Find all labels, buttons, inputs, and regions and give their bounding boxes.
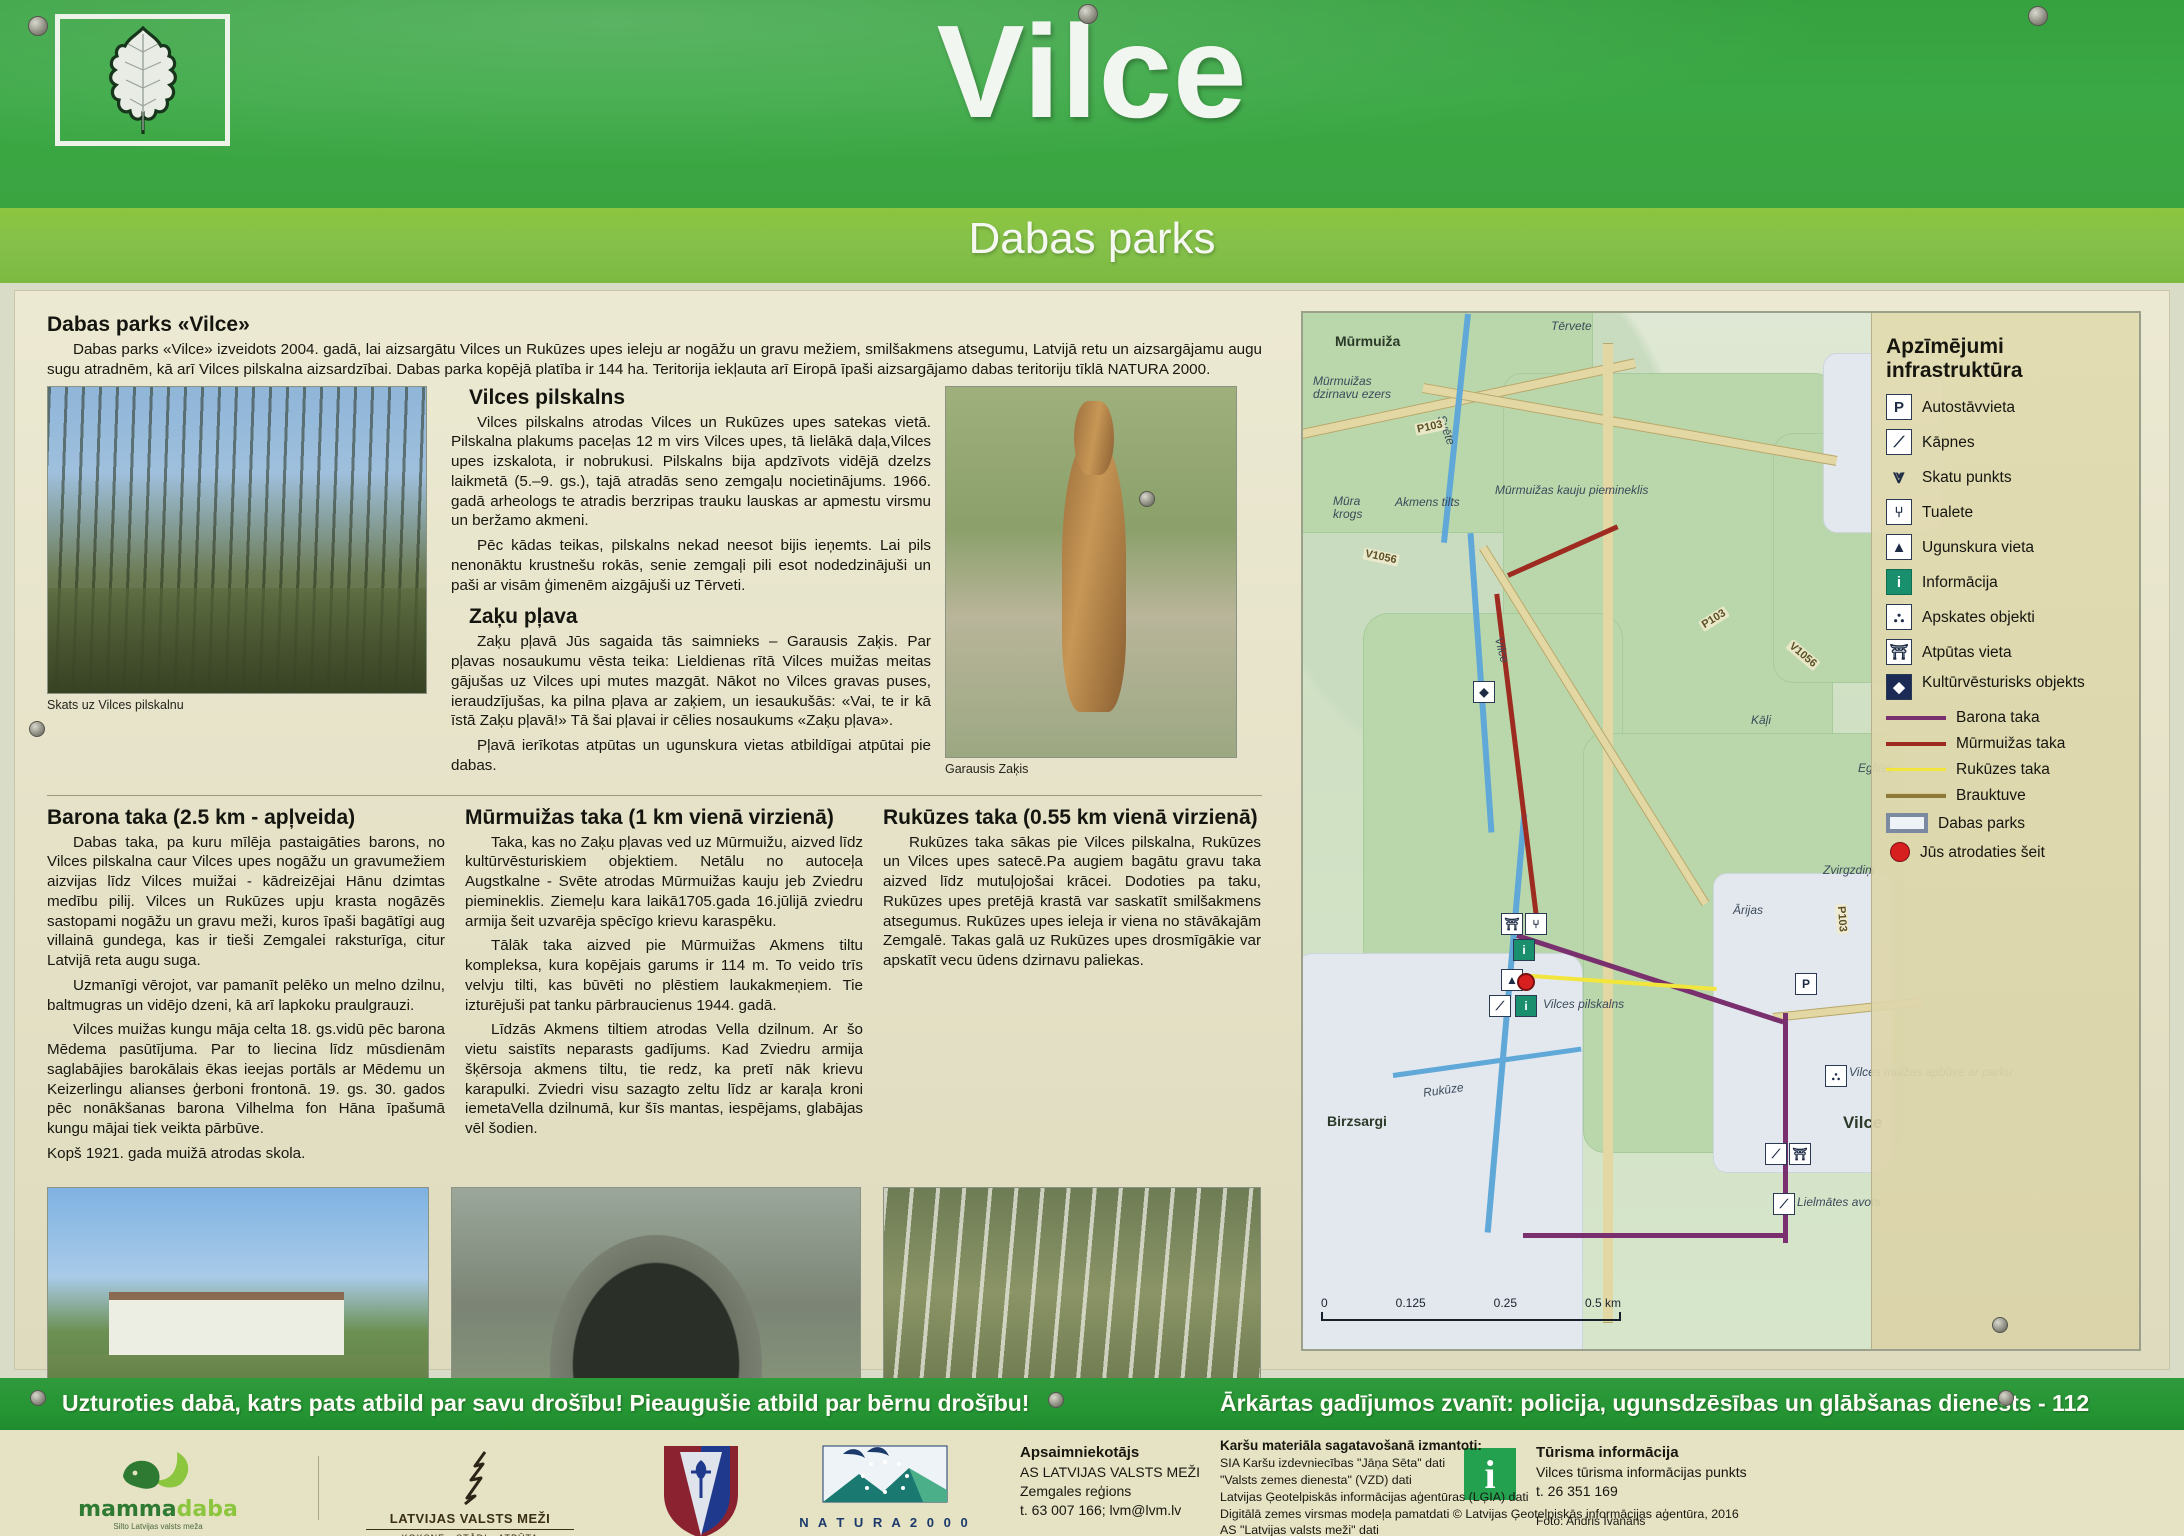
legend-label: Informācija bbox=[1922, 574, 1998, 591]
scale-tick-2: 0.25 bbox=[1494, 1296, 1517, 1310]
screw-bar-left bbox=[30, 1390, 46, 1406]
legend-item-parking: P Autostāvvieta bbox=[1886, 394, 2127, 420]
you-are-here-icon bbox=[1890, 842, 1910, 862]
safety-text-left: Uzturoties dabā, katrs pats atbild par s… bbox=[62, 1390, 1029, 1417]
zaku-heading: Zaķu pļava bbox=[469, 605, 931, 629]
upper-row: Skats uz Vilces pilskalnu Vilces pilskal… bbox=[47, 386, 1277, 781]
map-label-birzsargi: Birzsargi bbox=[1327, 1113, 1387, 1129]
content-panel: Dabas parks «Vilce» Dabas parks «Vilce» … bbox=[14, 290, 2170, 1370]
map-label-arijas: Ārijas bbox=[1733, 903, 1763, 917]
legend-label: Mūrmuižas taka bbox=[1956, 735, 2065, 752]
photo-garausis-zakis bbox=[945, 386, 1237, 758]
legend-label: Apskates objekti bbox=[1922, 609, 2035, 626]
board-title: Vilce bbox=[0, 6, 2184, 138]
map-label-kauju-piemineklis: Mūrmuižas kauju piemineklis bbox=[1495, 483, 1648, 497]
board-footer: mammadaba Silto Latvijas valsts meža LAT… bbox=[0, 1430, 2184, 1536]
stairs-icon: ⟋ bbox=[1886, 429, 1912, 455]
bear-leaf-icon bbox=[115, 1448, 201, 1492]
legend-item-toilet: ⑂ Tualete bbox=[1886, 499, 2127, 525]
legend-title: Apzīmējumi infrastruktūra bbox=[1886, 335, 2127, 382]
legend-label: Barona taka bbox=[1956, 709, 2040, 726]
legend-label: Atpūtas vieta bbox=[1922, 644, 2012, 661]
footer-divider-1 bbox=[318, 1456, 319, 1520]
legend-item-brauktuve: Brauktuve bbox=[1886, 787, 2127, 804]
map-label-tervete: Tērvete bbox=[1551, 319, 1592, 333]
screw-top-left bbox=[28, 16, 48, 36]
roadway-swatch bbox=[1886, 793, 1946, 798]
legend-item-heritage: ◆ Kultūrvēsturisks objekts bbox=[1886, 674, 2127, 700]
murmuizas-trail-swatch bbox=[1886, 742, 1946, 746]
photo-vilces-pilskalns bbox=[47, 386, 427, 694]
legend-item-barona-taka: Barona taka bbox=[1886, 709, 2127, 726]
map-pin-heritage[interactable]: ◆ bbox=[1473, 681, 1495, 703]
natura-geese-icon bbox=[805, 1444, 965, 1510]
heraldic-shield-icon bbox=[660, 1444, 742, 1536]
screw-bar-right bbox=[1998, 1390, 2014, 1406]
legend-item-sightseeing: ⛬ Apskates objekti bbox=[1886, 604, 2127, 630]
map-label-akmens-tilts: Akmens tilts bbox=[1395, 495, 1460, 509]
legend-title-line2: infrastruktūra bbox=[1886, 359, 2023, 382]
legend-label: Skatu punkts bbox=[1922, 469, 2012, 486]
rukuzes-trail-swatch bbox=[1886, 768, 1946, 771]
board-subtitle: Dabas parks bbox=[0, 214, 2184, 264]
barona-p2: Uzmanīgi vērojot, var pamanīt pelēko un … bbox=[47, 976, 445, 1016]
map-pin-parking[interactable]: P bbox=[1795, 973, 1817, 995]
legend-label: Autostāvvieta bbox=[1922, 399, 2015, 416]
legend-item-viewpoint: ⩔ Skatu punkts bbox=[1886, 464, 2127, 490]
source-line: Digitālā zemes virsmas modeļa pamatdati … bbox=[1220, 1506, 1740, 1523]
caption-hare: Garausis Zaķis bbox=[945, 762, 1245, 776]
legend-item-stairs: ⟋ Kāpnes bbox=[1886, 429, 2127, 455]
map-label-lielmates-avots: Lielmātes avots bbox=[1797, 1195, 1880, 1209]
screw-legend bbox=[1992, 1317, 2008, 1333]
map-label-vilces-pilskalns: Vilces pilskalns bbox=[1543, 997, 1624, 1011]
murmuizas-heading: Mūrmuižas taka (1 km vienā virzienā) bbox=[465, 806, 863, 830]
trail-murmuizas: Mūrmuižas taka (1 km vienā virzienā) Tak… bbox=[465, 806, 863, 1169]
map-pin-information[interactable]: i bbox=[1513, 939, 1535, 961]
legend-label: Jūs atrodaties šeit bbox=[1920, 844, 2045, 861]
legend-item-rukuzes-taka: Rukūzes taka bbox=[1886, 761, 2127, 778]
screw-top-mid bbox=[1078, 4, 1098, 24]
barona-trail-swatch bbox=[1886, 716, 1946, 720]
murmuizas-p3: Līdzās Akmens tiltiem atrodas Vella dzil… bbox=[465, 1020, 863, 1139]
sources-title: Karšu materiāla sagatavošanā izmantoti: bbox=[1220, 1438, 1740, 1453]
source-line: AS "Latvijas valsts meži" dati bbox=[1220, 1522, 1740, 1536]
murmuizas-p2: Tālāk taka aizved pie Mūrmuižas Akmens t… bbox=[465, 936, 863, 1015]
map-you-are-here-marker bbox=[1517, 973, 1535, 991]
text-columns: Dabas parks «Vilce» Dabas parks «Vilce» … bbox=[47, 313, 1277, 1469]
map-field-area bbox=[1301, 953, 1583, 1351]
rukuzes-p1: Rukūzes taka sākas pie Vilces pilskalna,… bbox=[883, 833, 1261, 971]
lvm-wordmark: LATVIJAS VALSTS MEŽI bbox=[340, 1511, 600, 1526]
pilskalns-text-block: Vilces pilskalns Vilces pilskalns atroda… bbox=[451, 386, 931, 781]
legend-label: Ugunskura vieta bbox=[1922, 539, 2034, 556]
map-scale-labels: 0 0.125 0.25 0.5 km bbox=[1321, 1296, 1621, 1310]
source-line: "Valsts zemes dienesta" (VZD) dati bbox=[1220, 1472, 1740, 1489]
trail-rukuzes: Rukūzes taka (0.55 km vienā virzienā) Ru… bbox=[883, 806, 1261, 1169]
legend-label: Tualete bbox=[1922, 504, 1973, 521]
natura-wordmark: N A T U R A 2 0 0 0 bbox=[790, 1515, 980, 1530]
map-label-kali: Kāļi bbox=[1751, 713, 1771, 727]
screw-bar-mid bbox=[1048, 1392, 1064, 1408]
scale-tick-1: 0.125 bbox=[1396, 1296, 1426, 1310]
information-board: Vilce Dabas parks Dabas parks «Vilce» Da… bbox=[0, 0, 2184, 1536]
information-icon: i bbox=[1886, 569, 1912, 595]
campfire-icon: ▲ bbox=[1886, 534, 1912, 560]
legend-item-you-are-here: Jūs atrodaties šeit bbox=[1886, 842, 2127, 862]
viewpoint-icon: ⩔ bbox=[1886, 464, 1912, 490]
heritage-icon: ◆ bbox=[1886, 674, 1912, 700]
barona-p3: Vilces muižas kungu māja celta 18. gs.vi… bbox=[47, 1020, 445, 1139]
hare-photo-block: Garausis Zaķis bbox=[945, 386, 1245, 781]
spruce-icon bbox=[435, 1450, 505, 1506]
intro-section: Dabas parks «Vilce» Dabas parks «Vilce» … bbox=[47, 313, 1262, 380]
legend-label: Kultūrvēsturisks objekts bbox=[1922, 674, 2085, 691]
map-trail-barona bbox=[1523, 1233, 1785, 1238]
intro-text: Dabas parks «Vilce» izveidots 2004. gadā… bbox=[47, 340, 1262, 380]
map-scale-rule bbox=[1321, 1312, 1621, 1321]
map-label-dzirnavu-ezers: Mūrmuižas dzirnavu ezers bbox=[1313, 375, 1393, 401]
source-line: Latvijas Ģeotelpiskās informācijas aģent… bbox=[1220, 1489, 1740, 1506]
map-pin-rest-area[interactable]: ⛩ bbox=[1501, 913, 1523, 935]
park-map[interactable]: ⛩ ⑂ i ▲ ⟋ i P ◆ ⛬ ⟋ ⛩ ⟋ Mūrmuiža Mūrmuiž… bbox=[1301, 311, 2141, 1351]
map-pin-sightseeing[interactable]: ⛬ bbox=[1825, 1065, 1847, 1087]
zaku-p2: Pļavā ierīkotas atpūtas un ugunskura vie… bbox=[451, 736, 931, 776]
legend-item-rest-area: ⛩ Atpūtas vieta bbox=[1886, 639, 2127, 665]
pilskalns-heading: Vilces pilskalns bbox=[469, 386, 931, 410]
pilskalns-p2: Pēc kādas teikas, pilskalns nekad neesot… bbox=[451, 536, 931, 595]
scale-tick-3: 0.5 km bbox=[1585, 1296, 1621, 1310]
screw-top-right bbox=[2028, 6, 2048, 26]
board-header: Vilce bbox=[0, 0, 2184, 208]
rukuzes-heading: Rukūzes taka (0.55 km vienā virzienā) bbox=[883, 806, 1261, 830]
legend-label: Dabas parks bbox=[1938, 815, 2025, 832]
legend-label: Kāpnes bbox=[1922, 434, 1975, 451]
map-pin-toilet[interactable]: ⑂ bbox=[1525, 913, 1547, 935]
legend-title-line1: Apzīmējumi bbox=[1886, 335, 2004, 358]
parking-icon: P bbox=[1886, 394, 1912, 420]
park-boundary-swatch bbox=[1886, 813, 1928, 833]
murmuizas-p1: Taka, kas no Zaķu pļavas ved uz Mūrmuižu… bbox=[465, 833, 863, 932]
legend-item-campfire: ▲ Ugunskura vieta bbox=[1886, 534, 2127, 560]
map-label-mura-krogs: Mūra krogs bbox=[1333, 495, 1383, 521]
logo-coat-of-arms bbox=[660, 1444, 742, 1536]
logo-natura2000: N A T U R A 2 0 0 0 bbox=[790, 1444, 980, 1530]
legend-item-murmuizas-taka: Mūrmuižas taka bbox=[1886, 735, 2127, 752]
barona-p4: Kopš 1921. gada muižā atrodas skola. bbox=[47, 1144, 445, 1164]
map-scale-bar: 0 0.125 0.25 0.5 km bbox=[1321, 1296, 1621, 1321]
pilskalns-p1: Vilces pilskalns atrodas Vilces un Rukūz… bbox=[451, 413, 931, 532]
barona-heading: Barona taka (2.5 km - apļveida) bbox=[47, 806, 445, 830]
map-pin-rest-2[interactable]: ⛩ bbox=[1789, 1143, 1811, 1165]
mammadaba-wordmark: mammadaba bbox=[58, 1497, 258, 1522]
screw-panel-left bbox=[29, 721, 45, 737]
logo-mammadaba: mammadaba Silto Latvijas valsts meža bbox=[58, 1448, 258, 1531]
zaku-p1: Zaķu pļavā Jūs sagaida tās saimnieks – G… bbox=[451, 632, 931, 731]
scale-tick-0: 0 bbox=[1321, 1296, 1328, 1310]
sightseeing-icon: ⛬ bbox=[1886, 604, 1912, 630]
rest-area-icon: ⛩ bbox=[1886, 639, 1912, 665]
map-legend: Apzīmējumi infrastruktūra P Autostāvviet… bbox=[1871, 313, 2139, 1349]
barona-p1: Dabas taka, pa kuru mīlēja pastaigāties … bbox=[47, 833, 445, 971]
legend-label: Brauktuve bbox=[1956, 787, 2026, 804]
trail-barona: Barona taka (2.5 km - apļveida) Dabas ta… bbox=[47, 806, 445, 1169]
intro-heading: Dabas parks «Vilce» bbox=[47, 313, 1262, 337]
map-sources-block: Karšu materiāla sagatavošanā izmantoti: … bbox=[1220, 1438, 1740, 1536]
map-pin-stairs[interactable]: ⟋ bbox=[1489, 995, 1511, 1017]
mammadaba-tagline: Silto Latvijas valsts meža bbox=[58, 1522, 258, 1531]
logo-lvm: LATVIJAS VALSTS MEŽI KOKSNE · STĀDI · AT… bbox=[340, 1450, 600, 1536]
legend-label: Rukūzes taka bbox=[1956, 761, 2050, 778]
trail-columns: Barona taka (2.5 km - apļveida) Dabas ta… bbox=[47, 806, 1277, 1169]
source-line: SIA Karšu izdevniecības "Jāņa Sēta" dati bbox=[1220, 1455, 1740, 1472]
toilet-icon: ⑂ bbox=[1886, 499, 1912, 525]
map-pin-stairs-2[interactable]: ⟋ bbox=[1765, 1143, 1787, 1165]
section-divider bbox=[47, 795, 1262, 796]
legend-item-dabas-parks: Dabas parks bbox=[1886, 813, 2127, 833]
safety-text-right: Ārkārtas gadījumos zvanīt: policija, ugu… bbox=[1220, 1390, 2089, 1417]
map-road-label-p103-s: P103 bbox=[1835, 904, 1849, 934]
map-pin-spring[interactable]: ⟋ bbox=[1773, 1193, 1795, 1215]
screw-panel-map bbox=[1139, 491, 1155, 507]
map-pin-info-2[interactable]: i bbox=[1515, 995, 1537, 1017]
legend-item-information: i Informācija bbox=[1886, 569, 2127, 595]
map-label-zvirgzdini: Zvirgzdiņi bbox=[1823, 863, 1874, 877]
map-label-murmuiza: Mūrmuiža bbox=[1335, 333, 1400, 349]
